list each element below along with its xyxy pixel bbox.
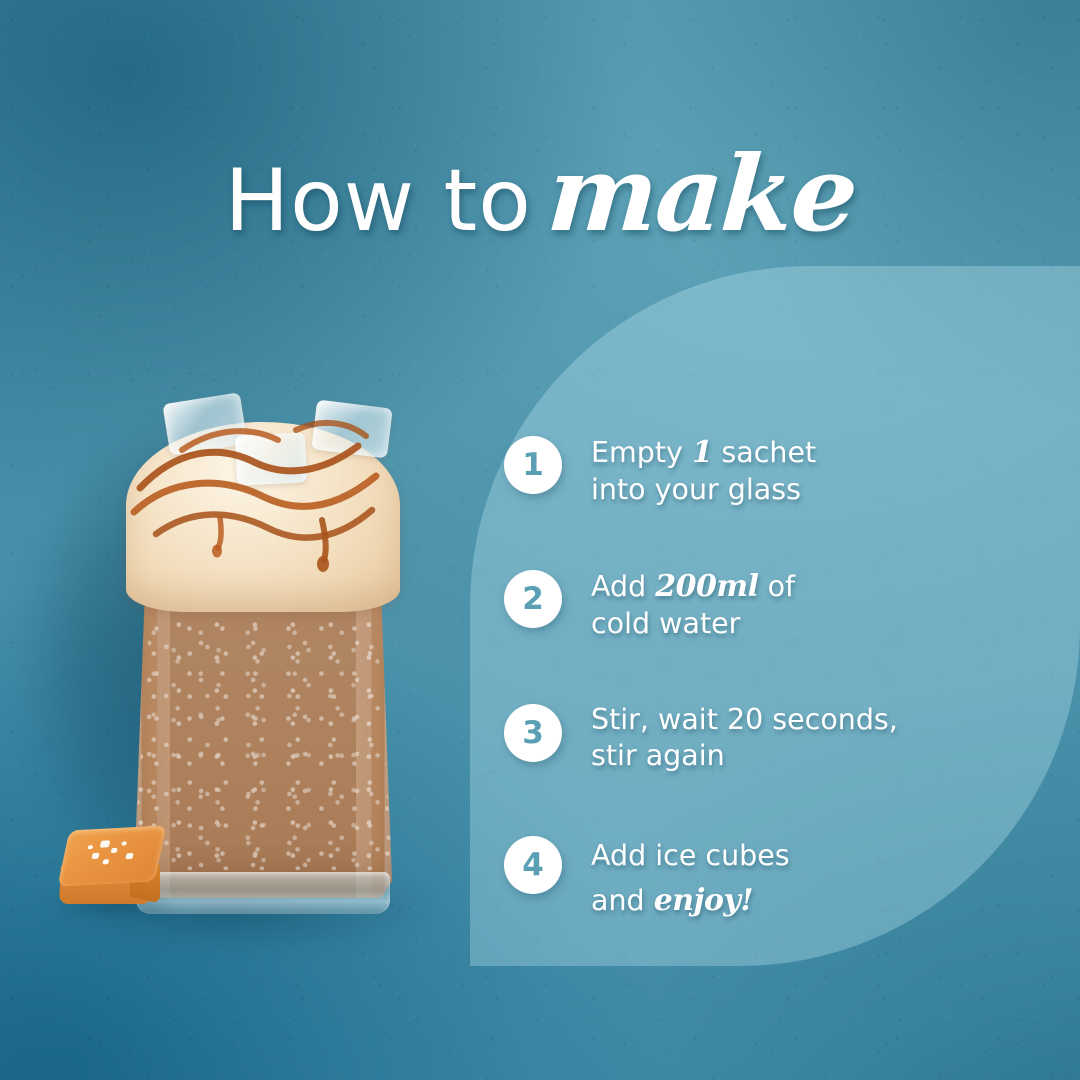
step-text-part: of [759,570,796,603]
step-text-part: Add ice cubes [591,839,790,872]
step-line: stir again [591,738,898,774]
step-text: Add ice cubes and enjoy! [591,832,790,925]
step-line: and enjoy! [591,878,790,925]
step-number-badge: 2 [504,570,562,628]
steps-list: 1 Empty 1 sachet into your glass 2 Add 2… [504,432,944,924]
condensation-droplets [134,620,392,870]
step-text-part: and [591,884,654,917]
step-text-part: Stir, wait 20 seconds, [591,703,898,736]
title-plain-part: How to [225,151,532,251]
title-script-part: make [544,142,859,246]
step-line: Add 200ml of [591,568,795,606]
step-text-part: stir again [591,739,725,772]
step-line: into your glass [591,472,816,508]
step-text: Empty 1 sachet into your glass [591,432,816,509]
step-text-part: Empty [591,436,692,469]
step-text-part: Add [591,570,655,603]
salt-crystals [58,825,167,886]
step-line: cold water [591,606,795,642]
salted-caramel-candy [58,828,166,906]
page-title: How tomake [0,142,1080,246]
step-text: Stir, wait 20 seconds, stir again [591,700,898,775]
step-text-part: into your glass [591,473,801,506]
step-number-badge: 3 [504,704,562,762]
step-text-highlight: 200ml [655,569,758,604]
caramel-drizzle [126,392,400,602]
step-line: Stir, wait 20 seconds, [591,702,898,738]
step-item: 4 Add ice cubes and enjoy! [504,832,944,925]
step-item: 3 Stir, wait 20 seconds, stir again [504,700,944,775]
step-line: Add ice cubes [591,834,790,878]
step-text-part: sachet [712,436,816,469]
how-to-make-instruction-poster: How tomake 1 Empty 1 sachet into your gl… [0,0,1080,1080]
step-number-badge: 4 [504,836,562,894]
step-text-part: cold water [591,607,740,640]
step-line: Empty 1 sachet [591,434,816,472]
step-text-highlight: 1 [692,435,712,470]
step-text-highlight: enjoy! [654,883,753,918]
step-number-badge: 1 [504,436,562,494]
step-item: 1 Empty 1 sachet into your glass [504,432,944,509]
step-text: Add 200ml of cold water [591,566,795,643]
step-item: 2 Add 200ml of cold water [504,566,944,643]
